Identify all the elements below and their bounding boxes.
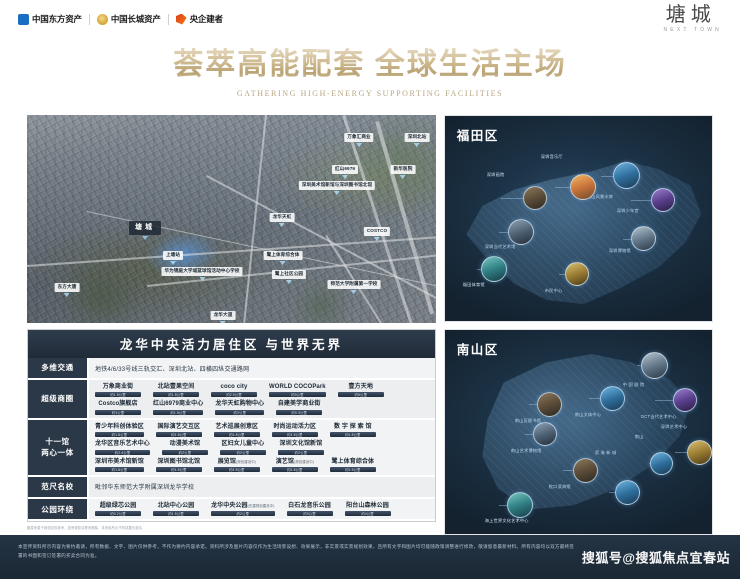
facility-distance: 约1.8公里: [214, 432, 260, 437]
poi-photo: [523, 186, 547, 210]
table-row: 十一馆两心一体青少年科创体验区约1.8公里国际演艺交互区约1.8公里艺术巡展创意…: [28, 419, 435, 476]
facility-name: 展览馆(规划建设中): [218, 458, 256, 466]
poi-photo: [615, 480, 640, 505]
facility-distance: 约1.8公里: [95, 467, 144, 472]
poi-node[interactable]: [600, 386, 625, 411]
map-pin-arrow-icon: [342, 175, 348, 179]
poi-node[interactable]: [507, 492, 533, 518]
district-maps-column: 福田区深圳音乐厅深圳画院莲山风景水库深圳少年宫深圳当代艺术馆深圳博物馆福田体育馆…: [444, 115, 713, 535]
page-title: 荟萃高能配套 全球生活主场: [0, 46, 740, 84]
content-area: 万象汇商业深圳北站红山6979新华医院深圳美术馆新馆与深圳图书馆北馆塘城龙华天虹…: [0, 115, 740, 535]
facility-chip: 时尚运动活力区约1.8公里: [272, 423, 318, 437]
map-pin-label: 龙华天虹: [270, 213, 295, 222]
project-logo-tagline: NEXT TOWN: [659, 27, 722, 33]
map-pin-arrow-icon: [279, 223, 285, 227]
table-row-content: 地铁4/6/33号线三轨交汇、深圳北站、四横四纵交通路网: [88, 358, 435, 379]
poi-photo: [631, 226, 656, 251]
facility-name: 万象商业街: [103, 383, 134, 391]
facility-name: 数 字 探 索 馆: [334, 423, 372, 431]
facility-chip: 深圳图书馆北馆约1.8公里: [156, 458, 202, 472]
poi-node[interactable]: [570, 174, 596, 200]
table-row: 多维交通地铁4/6/33号线三轨交汇、深圳北站、四横四纵交通路网: [28, 358, 435, 379]
map-pin-label: 上塘站: [163, 251, 183, 260]
facility-distance: 约2公里: [162, 450, 208, 455]
facility-name: 青少年科创体验区: [95, 423, 144, 431]
facility-chip: 演艺馆(规划建设中)约1.8公里: [272, 458, 318, 472]
facility-chip: 国际演艺交互区约1.8公里: [156, 423, 202, 437]
facility-chip: 数 字 探 索 馆约1.8公里: [330, 423, 376, 437]
page-footer: 本宣传资料所示内容为要约邀请，所有数据、文字、图片仅供参考，不作为要约内容承诺。…: [0, 535, 740, 579]
facilities-table-body: 多维交通地铁4/6/33号线三轨交汇、深圳北站、四横四纵交通路网超级商圈万象商业…: [28, 358, 435, 521]
map-pin-arrow-icon: [199, 277, 205, 281]
facility-distance: 约0.3公里: [276, 410, 322, 415]
project-logo-name: 塘城: [659, 5, 722, 26]
facility-distance: 约1.8公里: [156, 432, 202, 437]
district-outline: [445, 116, 712, 321]
map-pin-label: 华为锦庭大学城篮球馆活动中心学校: [161, 267, 242, 276]
facility-name: WORLD COCOPark: [269, 383, 326, 391]
facility-name: 龙华区音乐艺术中心: [95, 440, 150, 448]
poi-node[interactable]: [523, 186, 547, 210]
chip-row: 青少年科创体验区约1.8公里国际演艺交互区约1.8公里艺术巡展创意区约1.8公里…: [95, 423, 429, 437]
facility-distance: 约1.8公里: [156, 467, 202, 472]
facilities-table: 龙华中央活力居住区 与世界无界 多维交通地铁4/6/33号线三轨交汇、深圳北站、…: [27, 329, 436, 522]
brand-china-orient: 中国东方资产: [18, 13, 82, 25]
map-pin-label: COSTCO: [364, 227, 390, 236]
poi-label: 深圳音乐厅: [541, 154, 563, 160]
table-credits: 图源来源于网络仅供参考，如有侵权请联系删除，本资料所示不构成要约邀请: [27, 525, 436, 530]
facility-chip: 白石龙音乐公园约3公里: [287, 502, 333, 516]
facility-distance: 约1.8公里: [330, 432, 376, 437]
facility-distance: 约3公里: [287, 511, 333, 516]
map-pin-label: 新华医院: [391, 165, 416, 174]
facility-chip: 区妇女儿童中心约2公里: [220, 440, 266, 454]
road-line: [326, 235, 402, 323]
poi-node[interactable]: [573, 458, 598, 483]
facility-name: 自建美学商业街: [278, 400, 321, 408]
chip-group: 青少年科创体验区约1.8公里国际演艺交互区约1.8公里艺术巡展创意区约1.8公里…: [95, 423, 429, 472]
poi-photo: [641, 352, 668, 379]
map-pin-arrow-icon: [414, 143, 420, 147]
map-pin-label: 深圳北站: [405, 133, 430, 142]
chip-row: 万象商业街约1.5公里北站壹果空间约1.8公里coco city约2.5公里WO…: [95, 383, 429, 397]
poi-node[interactable]: [631, 226, 656, 251]
left-column: 万象汇商业深圳北站红山6979新华医院深圳美术馆新馆与深圳图书馆北馆塘城龙华天虹…: [27, 115, 436, 535]
map-pin: 塘城: [129, 221, 161, 240]
map-pin: 上塘站: [163, 251, 183, 265]
poi-label: 深圳画院: [487, 172, 505, 178]
chip-row: 深圳市美术馆新馆约1.8公里深圳图书馆北馆约1.8公里展览馆(规划建设中)约1.…: [95, 458, 429, 472]
facility-chip: 龙华天虹购物中心约2公里: [215, 400, 264, 414]
chip-row: 龙华区音乐艺术中心约2.4公里动漫美术馆约2公里区妇女儿童中心约2公里深圳文化馆…: [95, 440, 429, 454]
facility-name: 龙华中央公园(在建规划建设中): [211, 502, 275, 510]
brand-label: 中国长城资产: [111, 13, 161, 25]
facility-name: 壹方天地: [349, 383, 373, 391]
facility-distance: 约5公里: [338, 392, 384, 397]
facility-chip: 龙华中央公园(在建规划建设中)约2公里: [211, 502, 275, 516]
facility-distance: 约2.5公里: [211, 392, 257, 397]
poi-node[interactable]: [613, 162, 640, 189]
row-text: 毗邻华东师范大学附属深圳龙华学校: [95, 480, 429, 494]
facility-chip: Costco旗舰店约3公里: [95, 400, 141, 414]
facility-distance: 约2公里: [215, 410, 264, 415]
map-pin-arrow-icon: [64, 293, 70, 297]
facility-distance: 约1.8公里: [272, 432, 318, 437]
facility-distance: 约2.4公里: [95, 450, 150, 455]
facility-name: coco city: [221, 383, 248, 391]
table-row-label: 公园环绕: [28, 498, 88, 520]
facility-distance: 约0.2公里: [95, 511, 141, 516]
map-pin: 新华医院: [391, 165, 416, 179]
map-pin: 鹭上社区公园: [272, 270, 306, 284]
facility-chip: 北站中心公园约1.5公里: [153, 502, 199, 516]
map-pin-arrow-icon: [334, 191, 340, 195]
poi-photo: [673, 388, 697, 412]
aerial-map: 万象汇商业深圳北站红山6979新华医院深圳美术馆新馆与深圳图书馆北馆塘城龙华天虹…: [27, 115, 436, 323]
facility-chip: 红山6979商业中心约1.5公里: [153, 400, 203, 414]
table-row-content: 万象商业街约1.5公里北站壹果空间约1.8公里coco city约2.5公里WO…: [88, 379, 435, 419]
facility-name: 白石龙音乐公园: [288, 502, 331, 510]
poi-node[interactable]: [641, 352, 668, 379]
facility-name: 深圳市美术馆新馆: [95, 458, 144, 466]
facility-note: (规划建设中): [236, 460, 256, 464]
map-pin-arrow-icon: [280, 261, 286, 265]
facility-chip: 深圳市美术馆新馆约1.8公里: [95, 458, 144, 472]
facility-distance: 约1.5公里: [330, 467, 376, 472]
poi-photo: [613, 162, 640, 189]
facility-chip: 壹方天地约5公里: [338, 383, 384, 397]
brand-label: 央企建者: [190, 13, 223, 25]
facility-name: 艺术巡展创意区: [215, 423, 258, 431]
facility-distance: 约1.8公里: [95, 432, 144, 437]
map-pin-label: 红山6979: [332, 165, 358, 174]
facility-name: 深圳文化馆新馆: [280, 440, 323, 448]
brand-great-wall: 中国长城资产: [97, 13, 161, 25]
facility-distance: 约2公里: [278, 450, 324, 455]
table-row-content: 毗邻华东师范大学附属深圳龙华学校: [88, 476, 435, 498]
divider: [89, 14, 90, 25]
facility-distance: 约2公里: [220, 450, 266, 455]
facilities-table-title: 龙华中央活力居住区 与世界无界: [28, 330, 435, 358]
map-pin-label: 师范大学附属第一学校: [328, 280, 381, 289]
poi-photo: [651, 188, 675, 212]
facility-distance: 约2公里: [211, 511, 275, 516]
poi-photo: [570, 174, 596, 200]
brand-soe-builder: 央企建者: [176, 13, 223, 25]
map-pin-arrow-icon: [374, 237, 380, 241]
disclaimer-text: 本宣传资料所示内容为要约邀请，所有数据、文字、图片仅供参考，不作为要约内容承诺。…: [18, 543, 578, 560]
poi-photo: [573, 458, 598, 483]
map-pin-arrow-icon: [356, 143, 362, 147]
facility-chip: 青少年科创体验区约1.8公里: [95, 423, 144, 437]
brand-label: 中国东方资产: [32, 13, 82, 25]
map-pin: COSTCO: [364, 227, 390, 241]
facility-chip: 龙华区音乐艺术中心约2.4公里: [95, 440, 150, 454]
map-pin-label: 深圳美术馆新馆与深圳图书馆北馆: [299, 181, 375, 190]
facility-distance: 约3公里: [269, 392, 326, 397]
facility-name: 演艺馆(规划建设中): [276, 458, 314, 466]
map-pin: 师范大学附属第一学校: [328, 280, 381, 294]
road-line: [376, 121, 434, 314]
facility-note: (规划建设中): [294, 460, 314, 464]
poi-node[interactable]: [651, 188, 675, 212]
map-pin-arrow-icon: [220, 321, 226, 323]
facility-distance: 约1.8公里: [214, 467, 260, 472]
map-pin-label: 鹭上社区公园: [272, 270, 306, 279]
map-pin: 华为锦庭大学城篮球馆活动中心学校: [161, 267, 242, 281]
poi-photo: [508, 219, 534, 245]
district-map-title: 南山区: [457, 339, 499, 358]
facility-name: 深圳图书馆北馆: [157, 458, 200, 466]
map-pin-label: 塘城: [129, 221, 161, 235]
facility-distance: 约1.5公里: [153, 511, 199, 516]
facility-name: 动漫美术馆: [170, 440, 201, 448]
facility-chip: 超级绿芯公园约0.2公里: [95, 502, 141, 516]
facility-chip: 展览馆(规划建设中)约1.8公里: [214, 458, 260, 472]
facility-chip: WORLD COCOPark约3公里: [269, 383, 326, 397]
partner-logos: 中国东方资产 中国长城资产 央企建者: [18, 13, 223, 25]
poi-node[interactable]: [615, 480, 640, 505]
map-pin-label: 万象汇商业: [344, 133, 373, 142]
facility-chip: 深圳文化馆新馆约2公里: [278, 440, 324, 454]
poi-photo: [507, 492, 533, 518]
facility-name: 龙华天虹购物中心: [215, 400, 264, 408]
map-pin: 深圳美术馆新馆与深圳图书馆北馆: [299, 181, 375, 195]
map-pin: 龙华大道: [211, 311, 236, 323]
facility-distance: 约1.8公里: [153, 392, 199, 397]
map-pin: 深圳北站: [405, 133, 430, 147]
chip-row: Costco旗舰店约3公里红山6979商业中心约1.5公里龙华天虹购物中心约2公…: [95, 400, 429, 414]
poi-photo: [565, 262, 589, 286]
poi-label: 海上世界文化艺术中心: [485, 518, 529, 524]
facility-name: 北站壹果空间: [158, 383, 195, 391]
table-row-label: 超级商圈: [28, 379, 88, 419]
map-pin-arrow-icon: [142, 236, 148, 240]
poi-photo: [537, 392, 562, 417]
poi-photo: [600, 386, 625, 411]
poi-node[interactable]: [533, 422, 557, 446]
facility-distance: 约4公里: [345, 511, 391, 516]
facility-chip: 阳台山森林公园约4公里: [345, 502, 391, 516]
poi-label: 福田体育馆: [463, 282, 485, 288]
district-map-nanshan: 南山区南山区图书馆南山艺术博物馆南山文体中心中 国 剧 院OCT当代艺术中心深圳…: [444, 329, 713, 536]
facility-name: Costco旗舰店: [98, 400, 137, 408]
facility-chip: 鹭上体育综合体约1.5公里: [330, 458, 376, 472]
chip-group: 超级绿芯公园约0.2公里北站中心公园约1.5公里龙华中央公园(在建规划建设中)约…: [95, 502, 429, 516]
poi-node[interactable]: [481, 256, 507, 282]
chip-group: 万象商业街约1.5公里北站壹果空间约1.8公里coco city约2.5公里WO…: [95, 383, 429, 415]
poi-node[interactable]: [650, 452, 673, 475]
poi-node[interactable]: [673, 388, 697, 412]
facility-name: 区妇女儿童中心: [222, 440, 265, 448]
watermark: 搜狐号@搜狐焦点宜春站: [582, 548, 730, 567]
map-pin-label: 鹭上体育综合体: [264, 251, 303, 260]
table-row: 超级商圈万象商业街约1.5公里北站壹果空间约1.8公里coco city约2.5…: [28, 379, 435, 419]
map-pin: 东方大唐: [55, 283, 80, 297]
page-header: 中国东方资产 中国长城资产 央企建者 塘城 NEXT TOWN: [0, 0, 740, 38]
district-map-futian: 福田区深圳音乐厅深圳画院莲山风景水库深圳少年宫深圳当代艺术馆深圳博物馆福田体育馆…: [444, 115, 713, 322]
table-row: 公园环绕超级绿芯公园约0.2公里北站中心公园约1.5公里龙华中央公园(在建规划建…: [28, 498, 435, 520]
facility-distance: 约1.8公里: [272, 467, 318, 472]
map-pin-arrow-icon: [170, 261, 176, 265]
table-row: 范尺名校毗邻华东师范大学附属深圳龙华学校: [28, 476, 435, 498]
facility-name: 北站中心公园: [158, 502, 195, 510]
facility-chip: 艺术巡展创意区约1.8公里: [214, 423, 260, 437]
facility-name: 鹭上体育综合体: [331, 458, 374, 466]
table-row-content: 超级绿芯公园约0.2公里北站中心公园约1.5公里龙华中央公园(在建规划建设中)约…: [88, 498, 435, 520]
map-pin-label: 东方大唐: [55, 283, 80, 292]
district-map-title: 福田区: [457, 125, 499, 144]
facility-chip: coco city约2.5公里: [211, 383, 257, 397]
map-pin: 万象汇商业: [344, 133, 373, 147]
poi-photo: [533, 422, 557, 446]
facility-chip: 万象商业街约1.5公里: [95, 383, 141, 397]
facility-note: (在建规划建设中): [248, 504, 275, 508]
facility-chip: 北站壹果空间约1.8公里: [153, 383, 199, 397]
table-row-label: 范尺名校: [28, 476, 88, 498]
poi-node[interactable]: [565, 262, 589, 286]
facility-distance: 约3公里: [95, 410, 141, 415]
title-section: 荟萃高能配套 全球生活主场 GATHERING HIGH-ENERGY SUPP…: [0, 38, 740, 98]
ribbon-red-icon: [176, 14, 187, 25]
table-row-content: 青少年科创体验区约1.8公里国际演艺交互区约1.8公里艺术巡展创意区约1.8公里…: [88, 419, 435, 476]
map-pin: 鹭上体育综合体: [264, 251, 303, 265]
road-line: [244, 115, 267, 323]
circle-gold-icon: [97, 14, 108, 25]
page-subtitle: GATHERING HIGH-ENERGY SUPPORTING FACILIT…: [0, 89, 740, 98]
map-pin-arrow-icon: [286, 280, 292, 284]
poi-node[interactable]: [537, 392, 562, 417]
map-pin-label: 龙华大道: [211, 311, 236, 320]
poi-node[interactable]: [508, 219, 534, 245]
facility-chip: 动漫美术馆约2公里: [162, 440, 208, 454]
map-pin-arrow-icon: [351, 290, 357, 294]
map-pin: 红山6979: [332, 165, 358, 179]
district-outline: [445, 330, 712, 535]
project-logo: 塘城 NEXT TOWN: [659, 5, 726, 33]
map-pin: 龙华天虹: [270, 213, 295, 227]
facility-name: 红山6979商业中心: [153, 400, 203, 408]
poi-node[interactable]: [687, 440, 712, 465]
table-row-label: 十一馆两心一体: [28, 419, 88, 476]
facility-distance: 约1.5公里: [95, 392, 141, 397]
divider: [168, 14, 169, 25]
facility-name: 超级绿芯公园: [100, 502, 137, 510]
chip-row: 超级绿芯公园约0.2公里北站中心公园约1.5公里龙华中央公园(在建规划建设中)约…: [95, 502, 429, 516]
map-pin-arrow-icon: [400, 175, 406, 179]
facility-name: 时尚运动活力区: [273, 423, 316, 431]
square-blue-icon: [18, 14, 29, 25]
facility-name: 国际演艺交互区: [157, 423, 200, 431]
facility-name: 阳台山森林公园: [346, 502, 389, 510]
row-text: 地铁4/6/33号线三轨交汇、深圳北站、四横四纵交通路网: [95, 361, 429, 375]
poi-photo: [481, 256, 507, 282]
poi-photo: [687, 440, 712, 465]
facility-chip: 自建美学商业街约0.3公里: [276, 400, 322, 414]
poi-photo: [650, 452, 673, 475]
table-row-label: 多维交通: [28, 358, 88, 379]
facility-distance: 约1.5公里: [153, 410, 203, 415]
